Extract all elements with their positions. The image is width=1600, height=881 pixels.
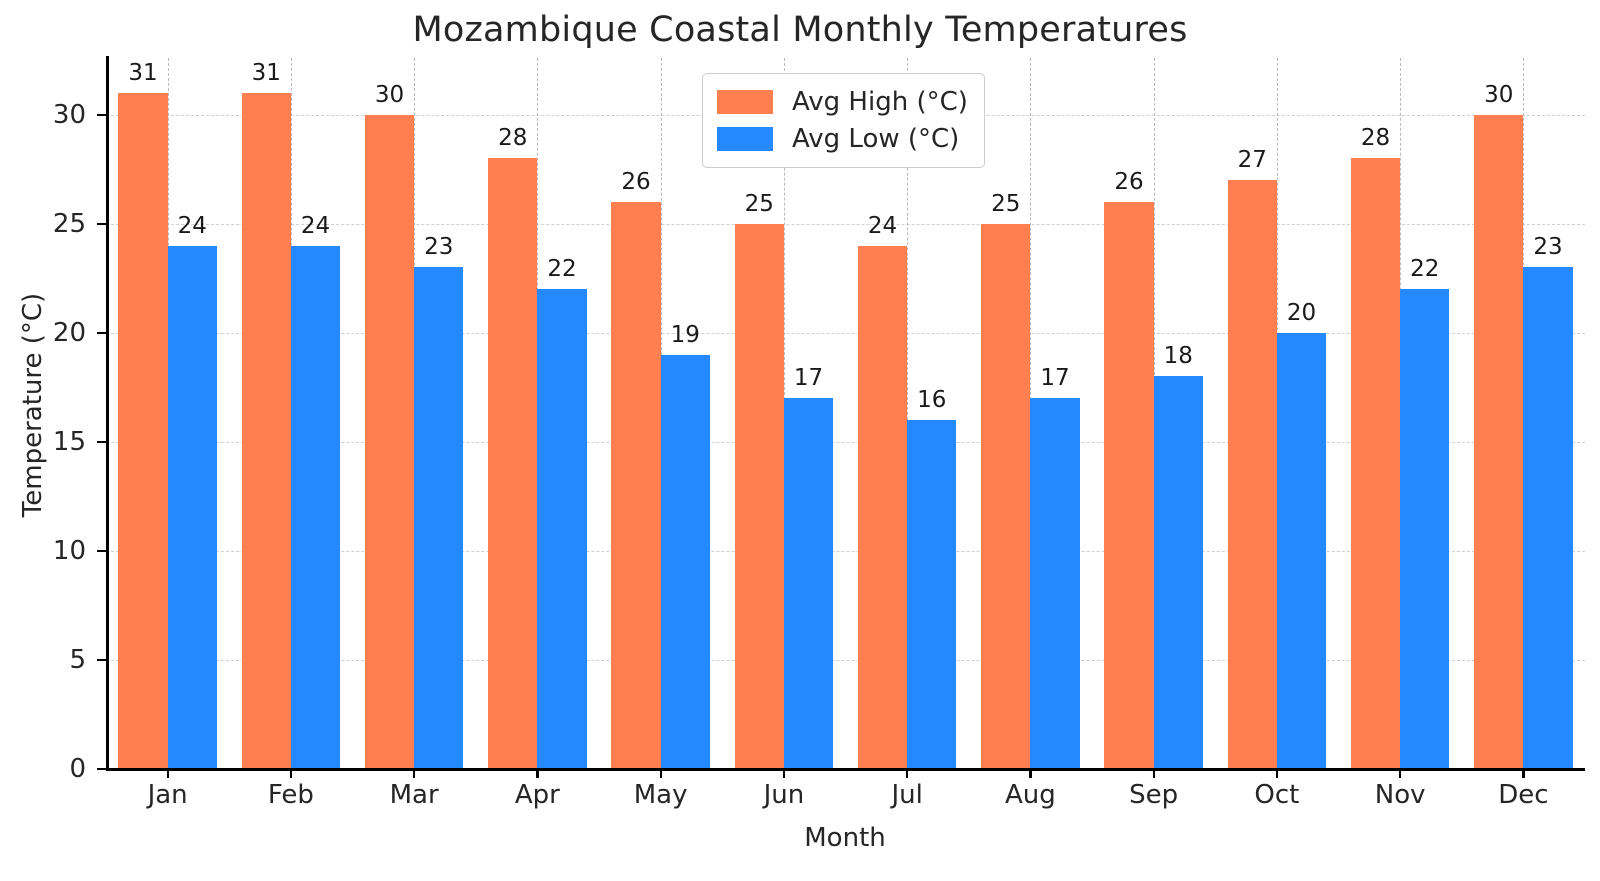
- x-tick-label: Jun: [714, 780, 854, 810]
- bar: [1400, 289, 1449, 769]
- bar: [1104, 202, 1153, 769]
- bar-value-label: 25: [714, 191, 804, 217]
- bar: [488, 158, 537, 769]
- x-tick-label: Dec: [1453, 780, 1593, 810]
- bar-value-label: 24: [271, 213, 361, 239]
- x-tick-mark: [906, 769, 908, 778]
- bar: [291, 246, 340, 769]
- bar-value-label: 26: [1084, 169, 1174, 195]
- y-axis-spine: [106, 56, 109, 771]
- x-tick-mark: [660, 769, 662, 778]
- legend-item[interactable]: Avg High (°C): [717, 83, 968, 120]
- bar-value-label: 31: [98, 60, 188, 86]
- x-tick-mark: [1029, 769, 1031, 778]
- bar: [1228, 180, 1277, 769]
- bar-value-label: 18: [1133, 343, 1223, 369]
- legend-item[interactable]: Avg Low (°C): [717, 120, 968, 157]
- x-tick-mark: [413, 769, 415, 778]
- bar-value-label: 28: [468, 125, 558, 151]
- x-tick-label: Aug: [960, 780, 1100, 810]
- y-tick-mark: [97, 223, 107, 225]
- bar-value-label: 30: [344, 82, 434, 108]
- bar-value-label: 20: [1257, 300, 1347, 326]
- legend-swatch: [717, 90, 773, 114]
- x-tick-mark: [167, 769, 169, 778]
- bar: [1474, 115, 1523, 769]
- bar: [907, 420, 956, 769]
- bar-value-label: 16: [887, 387, 977, 413]
- legend-label: Avg Low (°C): [792, 124, 959, 154]
- x-tick-label: Jan: [98, 780, 238, 810]
- bar-value-label: 30: [1454, 82, 1544, 108]
- x-tick-mark: [783, 769, 785, 778]
- bar-value-label: 19: [640, 322, 730, 348]
- y-tick-mark: [97, 114, 107, 116]
- x-axis-label: Month: [105, 823, 1585, 853]
- bar: [537, 289, 586, 769]
- bar-value-label: 27: [1207, 147, 1297, 173]
- x-tick-mark: [1522, 769, 1524, 778]
- x-tick-label: Mar: [344, 780, 484, 810]
- x-tick-label: Sep: [1084, 780, 1224, 810]
- bar-value-label: 24: [837, 213, 927, 239]
- bar: [1154, 376, 1203, 769]
- bar-value-label: 26: [591, 169, 681, 195]
- bar-value-label: 28: [1330, 125, 1420, 151]
- y-tick-mark: [97, 550, 107, 552]
- y-axis-label: Temperature (°C): [18, 235, 48, 575]
- y-tick-mark: [97, 768, 107, 770]
- x-tick-mark: [290, 769, 292, 778]
- x-tick-label: Jul: [837, 780, 977, 810]
- bar-value-label: 22: [1380, 256, 1470, 282]
- y-tick-label: 30: [0, 100, 86, 130]
- bar-value-label: 17: [764, 365, 854, 391]
- x-tick-label: Oct: [1207, 780, 1347, 810]
- bar: [858, 246, 907, 769]
- bar: [1030, 398, 1079, 769]
- legend-swatch: [717, 127, 773, 151]
- y-tick-label: 5: [0, 645, 86, 675]
- bar: [242, 93, 291, 769]
- x-tick-mark: [1399, 769, 1401, 778]
- bar: [661, 355, 710, 769]
- bar-value-label: 23: [394, 234, 484, 260]
- bar: [118, 93, 167, 769]
- x-tick-label: May: [591, 780, 731, 810]
- y-tick-label: 20: [0, 318, 86, 348]
- y-tick-label: 15: [0, 427, 86, 457]
- bar: [1277, 333, 1326, 769]
- y-tick-mark: [97, 659, 107, 661]
- y-tick-mark: [97, 441, 107, 443]
- x-tick-label: Apr: [467, 780, 607, 810]
- y-tick-label: 0: [0, 754, 86, 784]
- chart-figure: Mozambique Coastal Monthly Temperatures …: [0, 0, 1600, 881]
- bar-value-label: 24: [147, 213, 237, 239]
- bar-value-label: 23: [1503, 234, 1593, 260]
- x-tick-mark: [536, 769, 538, 778]
- x-tick-label: Nov: [1330, 780, 1470, 810]
- bar-value-label: 31: [221, 60, 311, 86]
- bar: [735, 224, 784, 769]
- bar-value-label: 22: [517, 256, 607, 282]
- bar: [611, 202, 660, 769]
- y-tick-mark: [97, 332, 107, 334]
- x-tick-mark: [1153, 769, 1155, 778]
- chart-legend: Avg High (°C)Avg Low (°C): [702, 73, 985, 168]
- chart-title: Mozambique Coastal Monthly Temperatures: [0, 10, 1600, 50]
- bar: [1523, 267, 1572, 769]
- bar: [981, 224, 1030, 769]
- bar: [365, 115, 414, 769]
- y-tick-label: 25: [0, 209, 86, 239]
- x-tick-mark: [1276, 769, 1278, 778]
- legend-label: Avg High (°C): [792, 87, 968, 117]
- bar-value-label: 17: [1010, 365, 1100, 391]
- bar-value-label: 25: [961, 191, 1051, 217]
- x-axis-spine: [106, 768, 1585, 771]
- bar: [414, 267, 463, 769]
- bar: [168, 246, 217, 769]
- bar: [1351, 158, 1400, 769]
- bar: [784, 398, 833, 769]
- y-tick-label: 10: [0, 536, 86, 566]
- x-tick-label: Feb: [221, 780, 361, 810]
